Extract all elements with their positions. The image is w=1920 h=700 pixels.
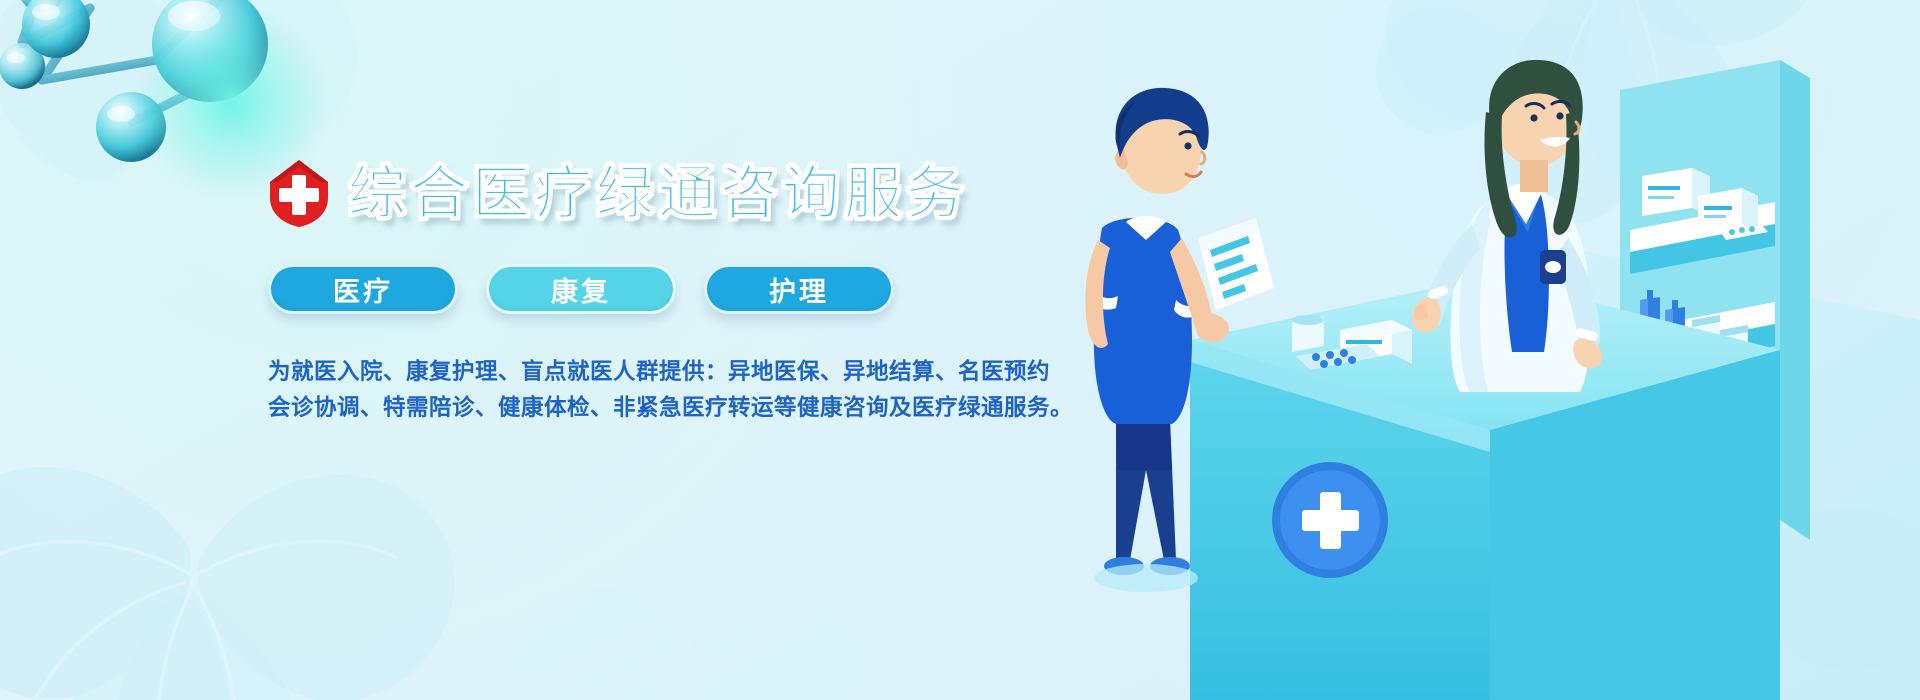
page-title: 综合医疗绿通咨询服务 — [348, 164, 968, 222]
backdrop-bubble — [1376, 6, 1504, 134]
medicine-cup — [1292, 315, 1324, 352]
description-block: 为就医入院、康复护理、盲点就医人群提供：异地医保、异地结算、名医预约 会诊协调、… — [268, 354, 1028, 427]
title-row: 综合医疗绿通咨询服务 — [268, 150, 1028, 236]
tag-nursing[interactable]: 护理 — [704, 264, 894, 314]
flower-silhouette-middle — [480, 480, 900, 700]
description-line-1: 为就医入院、康复护理、盲点就医人群提供：异地医保、异地结算、名医预约 — [268, 354, 1028, 390]
counter-cross-emblem — [1272, 462, 1388, 578]
medicine-box — [1698, 188, 1758, 232]
tag-medical-label: 医疗 — [333, 270, 393, 309]
red-medical-cross-badge — [268, 158, 330, 228]
tag-rehabilitation[interactable]: 康复 — [486, 264, 676, 314]
pharmacy-scene-illustration — [1020, 0, 1920, 700]
tag-list: 医疗 康复 护理 — [268, 264, 1028, 314]
tag-rehabilitation-label: 康复 — [551, 270, 611, 309]
description-line-2: 会诊协调、特需陪诊、健康体检、非紧急医疗转运等健康咨询及医疗绿通服务。 — [268, 390, 1028, 426]
medical-service-banner: 综合医疗绿通咨询服务 医疗 康复 护理 为就医入院、康复护理、盲点就医人群提供：… — [0, 0, 1920, 700]
banner-content: 综合医疗绿通咨询服务 医疗 康复 护理 为就医入院、康复护理、盲点就医人群提供：… — [268, 150, 1028, 427]
tag-nursing-label: 护理 — [769, 270, 829, 309]
tag-medical[interactable]: 医疗 — [268, 264, 458, 314]
prescription-paper — [1198, 218, 1274, 310]
